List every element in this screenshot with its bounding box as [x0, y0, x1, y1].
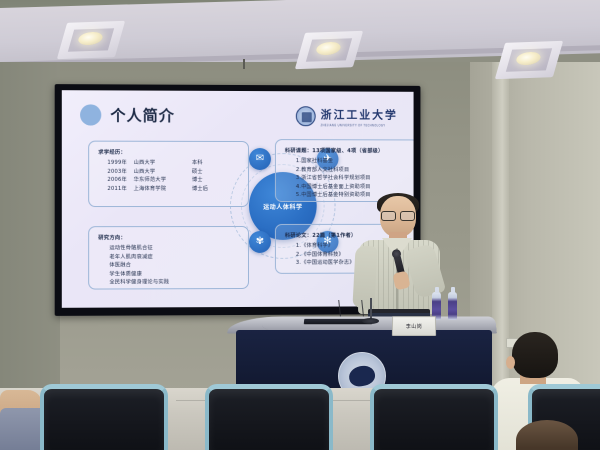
- list-item: 学生体质健康: [109, 270, 240, 277]
- edu-degree: 本科: [192, 159, 220, 166]
- mic-base: [362, 318, 379, 324]
- edu-school: 华东师范大学: [134, 176, 192, 183]
- gear-icon: ✾: [249, 231, 271, 253]
- edu-year: 1999年: [107, 159, 133, 166]
- list-item: 3.浙江省哲学社会科学规划项目: [296, 174, 411, 181]
- ceiling-light-icon: [57, 21, 125, 59]
- university-logo: 浙江工业大学 ZHEJIANG UNIVERSITY OF TECHNOLOGY: [296, 105, 398, 127]
- audience-ear: [506, 356, 515, 369]
- ceiling-light-icon: [495, 41, 563, 79]
- mail-icon: ✉: [249, 148, 271, 170]
- edu-degree: 博士: [192, 176, 220, 183]
- edu-school: 上海体育学院: [134, 185, 192, 192]
- auditorium-seat: [205, 384, 333, 450]
- edu-year: 2006年: [107, 176, 133, 183]
- name-card-label: 李山岗: [406, 323, 423, 330]
- edu-year: 2011年: [107, 185, 133, 192]
- education-row: 2003年 山西大学 硕士: [107, 167, 240, 174]
- name-card: 李山岗: [392, 316, 436, 336]
- ceiling-light-icon: [295, 31, 363, 69]
- page-title: 个人简介: [110, 104, 174, 125]
- list-item: 4.中国博士后基金面上资助项目: [296, 183, 411, 190]
- lecture-hall-scene: 个人简介 浙江工业大学 ZHEJIANG UNIVERSITY OF TECHN…: [0, 0, 600, 450]
- edu-school: 山西大学: [134, 167, 192, 174]
- list-item: 运动性骨骼肌合征: [109, 244, 240, 251]
- research-box: 研究方向： 运动性骨骼肌合征 老年人肌肉衰减症 体医融合 学生体质健康 全民科学…: [88, 226, 249, 290]
- list-item: 2.教育部人文社科项目: [296, 166, 411, 173]
- edu-school: 山西大学: [134, 159, 192, 166]
- education-heading: 求学经历：: [98, 149, 240, 156]
- education-row: 2011年 上海体育学院 博士后: [107, 185, 240, 192]
- hub-label: 运动人体科学: [263, 201, 302, 210]
- left-wall: [0, 62, 60, 392]
- research-heading: 研究方向：: [98, 234, 240, 241]
- education-row: 1999年 山西大学 本科: [107, 159, 240, 166]
- bullet-dot-icon: [80, 104, 101, 125]
- education-box: 求学经历： 1999年 山西大学 本科 2003年 山西大学 硕士 2006年 …: [88, 141, 249, 207]
- list-item: 体医融合: [109, 261, 240, 268]
- projects-heading: 科研课题：13项国家级、4项（省部级）: [285, 147, 411, 154]
- list-item: 1.国家社科基金: [296, 157, 411, 164]
- list-item: 全民科学健身理论与实践: [109, 278, 240, 285]
- slide-title-row: 个人简介: [80, 104, 175, 125]
- ceiling-hook: [243, 59, 245, 69]
- list-item: 老年人肌肉衰减症: [109, 253, 240, 260]
- edu-year: 2003年: [107, 167, 133, 174]
- auditorium-seat: [370, 384, 498, 450]
- audience-head: [512, 332, 558, 378]
- logo-name-en: ZHEJIANG UNIVERSITY OF TECHNOLOGY: [321, 124, 398, 128]
- education-row: 2006年 华东师范大学 博士: [107, 176, 240, 183]
- edu-degree: 博士后: [192, 185, 220, 192]
- logo-name-cn: 浙江工业大学: [321, 108, 398, 121]
- gooseneck-mic-stand: [370, 298, 372, 320]
- seal-icon: [296, 106, 316, 126]
- edu-degree: 硕士: [192, 168, 220, 175]
- glasses-icon: [381, 211, 415, 219]
- water-bottle-icon: [448, 292, 457, 320]
- auditorium-seat: [40, 384, 168, 450]
